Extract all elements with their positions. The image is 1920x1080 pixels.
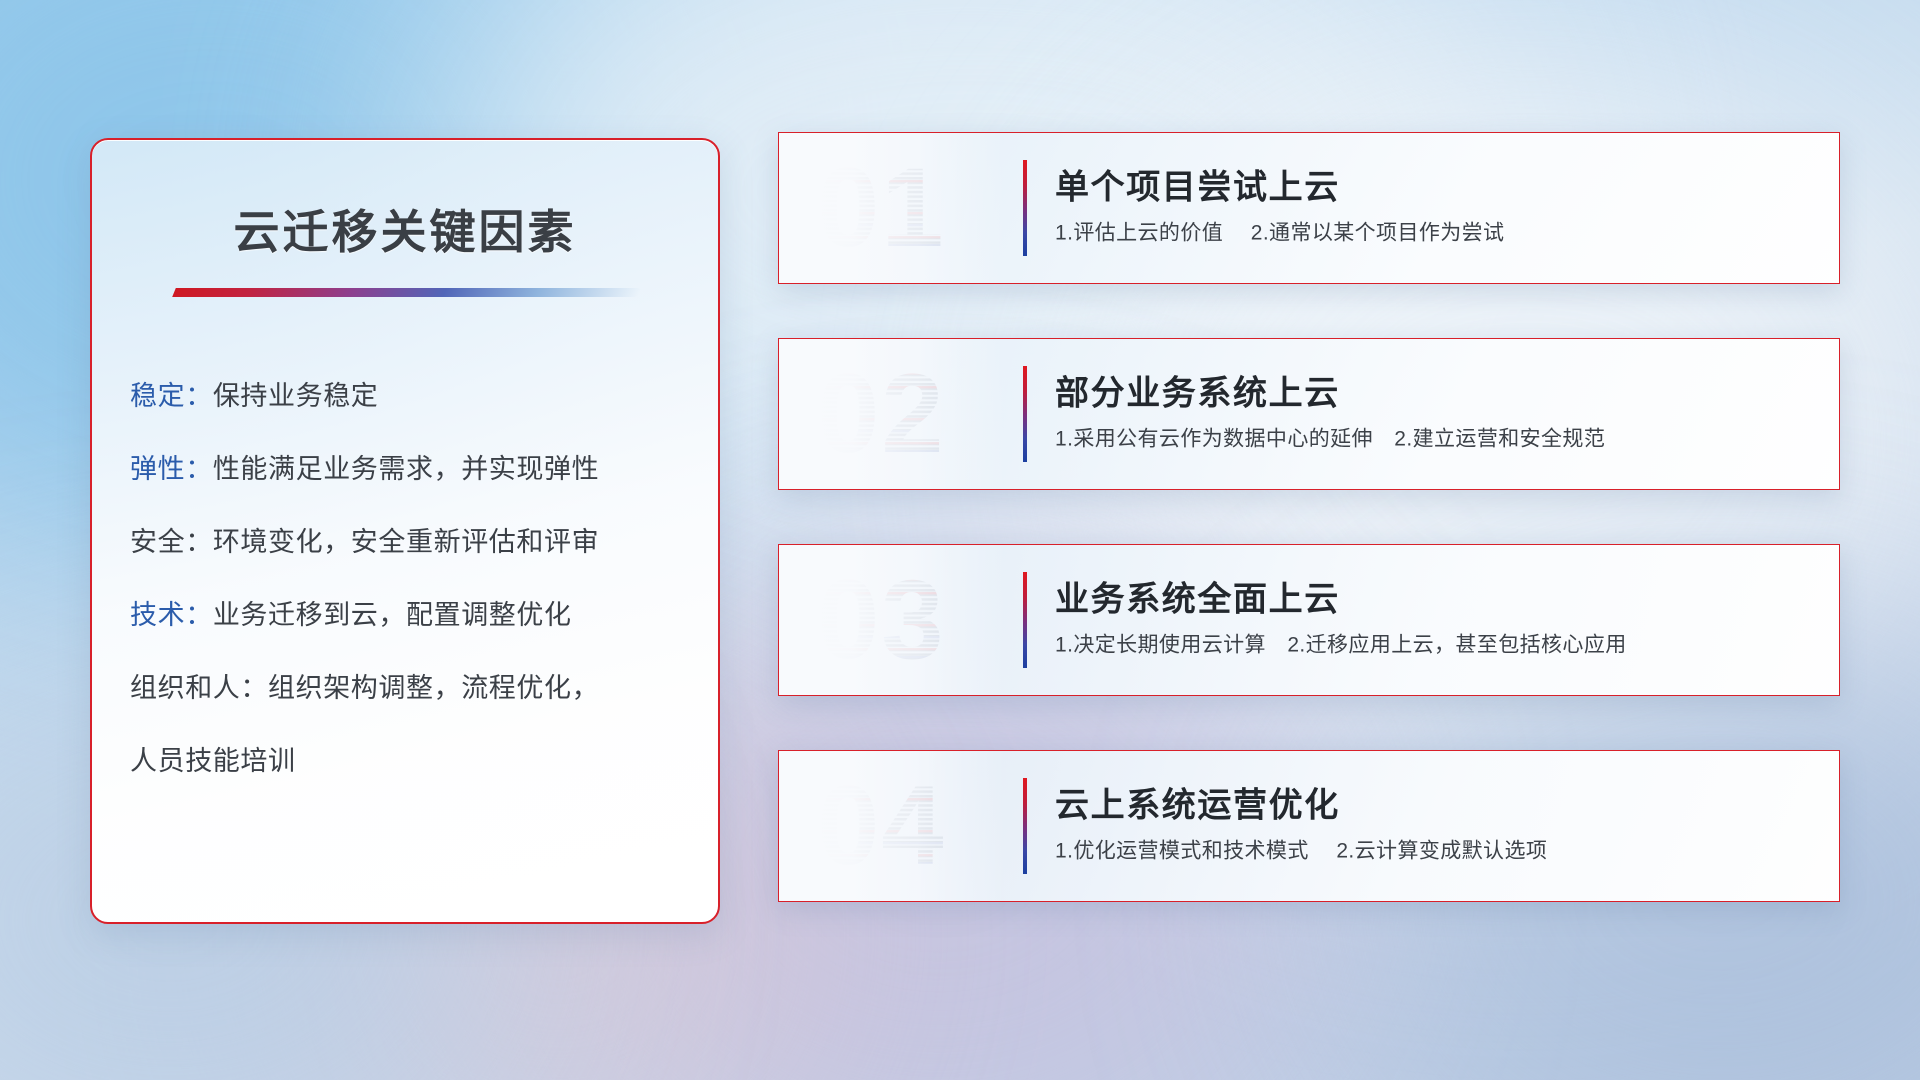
step-number: 02 xyxy=(813,360,993,468)
step-divider-accent xyxy=(1023,778,1027,874)
title-underline-accent xyxy=(172,288,642,297)
migration-steps: 01单个项目尝试上云1.评估上云的价值 2.通常以某个项目作为尝试02部分业务系… xyxy=(778,132,1840,902)
factor-row: 安全：环境变化，安全重新评估和评审 xyxy=(130,529,718,556)
factor-row: 稳定：保持业务稳定 xyxy=(130,383,718,410)
factor-row: 人员技能培训 xyxy=(130,748,718,775)
factor-label: 稳定： xyxy=(130,381,213,411)
step-title: 单个项目尝试上云 xyxy=(1055,170,1504,207)
factor-row: 弹性：性能满足业务需求，并实现弹性 xyxy=(130,456,718,483)
factor-value: 业务迁移到云，配置调整优化 xyxy=(213,600,572,630)
step-subtitle: 1.决定长期使用云计算 2.迁移应用上云，甚至包括核心应用 xyxy=(1055,633,1627,658)
step-card[interactable]: 01单个项目尝试上云1.评估上云的价值 2.通常以某个项目作为尝试 xyxy=(778,132,1840,284)
factor-label: 技术： xyxy=(130,600,213,630)
step-divider-accent xyxy=(1023,160,1027,256)
factor-label: 安全： xyxy=(130,527,213,557)
step-divider-accent xyxy=(1023,572,1027,668)
step-card[interactable]: 03业务系统全面上云1.决定长期使用云计算 2.迁移应用上云，甚至包括核心应用 xyxy=(778,544,1840,696)
factor-value: 保持业务稳定 xyxy=(213,381,379,411)
step-number: 01 xyxy=(813,154,993,262)
step-divider-accent xyxy=(1023,366,1027,462)
factor-value: 性能满足业务需求，并实现弹性 xyxy=(213,454,599,484)
factor-row: 组织和人：组织架构调整，流程优化， xyxy=(130,675,718,702)
step-number: 04 xyxy=(813,772,993,880)
step-text-block: 业务系统全面上云1.决定长期使用云计算 2.迁移应用上云，甚至包括核心应用 xyxy=(1055,582,1627,659)
step-title: 云上系统运营优化 xyxy=(1055,788,1547,825)
factor-value: 组织架构调整，流程优化， xyxy=(268,673,599,703)
factor-label: 弹性： xyxy=(130,454,213,484)
step-text-block: 部分业务系统上云1.采用公有云作为数据中心的延伸 2.建立运营和安全规范 xyxy=(1055,376,1605,453)
step-subtitle: 1.采用公有云作为数据中心的延伸 2.建立运营和安全规范 xyxy=(1055,427,1605,452)
step-title: 业务系统全面上云 xyxy=(1055,582,1627,619)
step-subtitle: 1.优化运营模式和技术模式 2.云计算变成默认选项 xyxy=(1055,839,1547,864)
factor-list: 稳定：保持业务稳定弹性：性能满足业务需求，并实现弹性安全：环境变化，安全重新评估… xyxy=(130,383,718,775)
step-subtitle: 1.评估上云的价值 2.通常以某个项目作为尝试 xyxy=(1055,221,1504,246)
step-number: 03 xyxy=(813,566,993,674)
step-title: 部分业务系统上云 xyxy=(1055,376,1605,413)
factor-value: 环境变化，安全重新评估和评审 xyxy=(213,527,599,557)
step-text-block: 云上系统运营优化1.优化运营模式和技术模式 2.云计算变成默认选项 xyxy=(1055,788,1547,865)
step-text-block: 单个项目尝试上云1.评估上云的价值 2.通常以某个项目作为尝试 xyxy=(1055,170,1504,247)
key-factors-panel: 云迁移关键因素 稳定：保持业务稳定弹性：性能满足业务需求，并实现弹性安全：环境变… xyxy=(90,138,720,924)
factor-value: 人员技能培训 xyxy=(130,746,296,776)
step-card[interactable]: 04云上系统运营优化1.优化运营模式和技术模式 2.云计算变成默认选项 xyxy=(778,750,1840,902)
factor-row: 技术：业务迁移到云，配置调整优化 xyxy=(130,602,718,629)
factor-label: 组织和人： xyxy=(130,673,268,703)
page-title: 云迁移关键因素 xyxy=(92,196,718,262)
step-card[interactable]: 02部分业务系统上云1.采用公有云作为数据中心的延伸 2.建立运营和安全规范 xyxy=(778,338,1840,490)
